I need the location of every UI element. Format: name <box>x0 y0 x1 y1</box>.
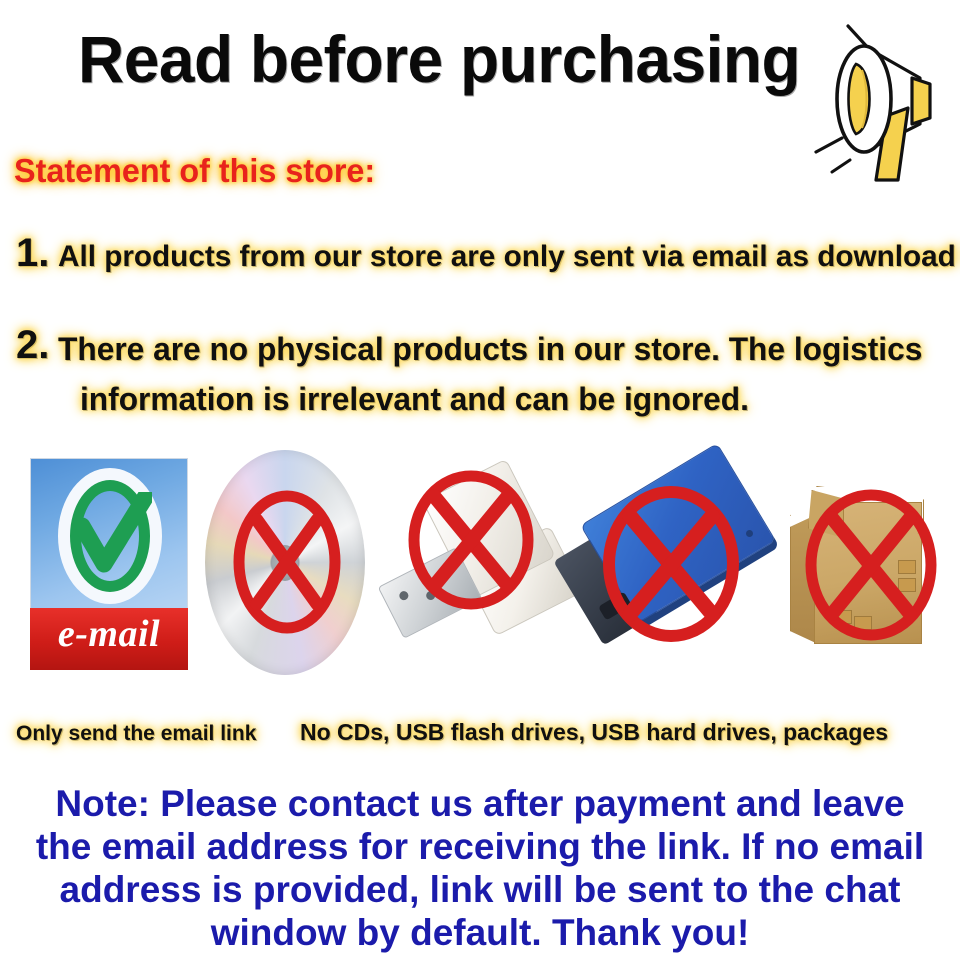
caption-email: Only send the email link <box>16 722 256 746</box>
list-item-2-number: 2. <box>16 325 49 365</box>
caption-forbidden: No CDs, USB flash drives, USB hard drive… <box>300 720 888 744</box>
note-line-1: Note: Please contact us after payment an… <box>0 782 960 825</box>
list-item-1-number: 1. <box>16 233 49 273</box>
cd-center-hole <box>272 545 298 581</box>
megaphone-icon <box>812 12 958 188</box>
promo-banner: Read before purchasing Statement of this… <box>0 0 960 960</box>
cd-disc-icon <box>205 450 365 675</box>
note-line-4: window by default. Thank you! <box>0 911 960 954</box>
statement-heading: Statement of this store: <box>14 152 375 190</box>
product-icon-row: e-mail <box>0 450 960 690</box>
email-label-band: e-mail <box>30 608 188 670</box>
note-line-2: the email address for receiving the link… <box>0 825 960 868</box>
green-check-icon <box>74 492 152 576</box>
email-icon: e-mail <box>30 458 188 670</box>
package-box-icon <box>790 468 948 664</box>
list-item-2-text-line1: There are no physical products in our st… <box>58 331 922 367</box>
header: Read before purchasing <box>0 8 960 118</box>
email-label: e-mail <box>30 612 188 656</box>
external-hard-drive-icon <box>570 464 778 664</box>
page-title: Read before purchasing <box>78 22 800 96</box>
note-line-3: address is provided, link will be sent t… <box>0 868 960 911</box>
list-item-1-text: All products from our store are only sen… <box>58 240 960 274</box>
list-item-2-text-line2: information is irrelevant and can be ign… <box>80 381 749 417</box>
note-block: Note: Please contact us after payment an… <box>0 782 960 954</box>
usb-flash-drive-icon <box>382 468 568 660</box>
